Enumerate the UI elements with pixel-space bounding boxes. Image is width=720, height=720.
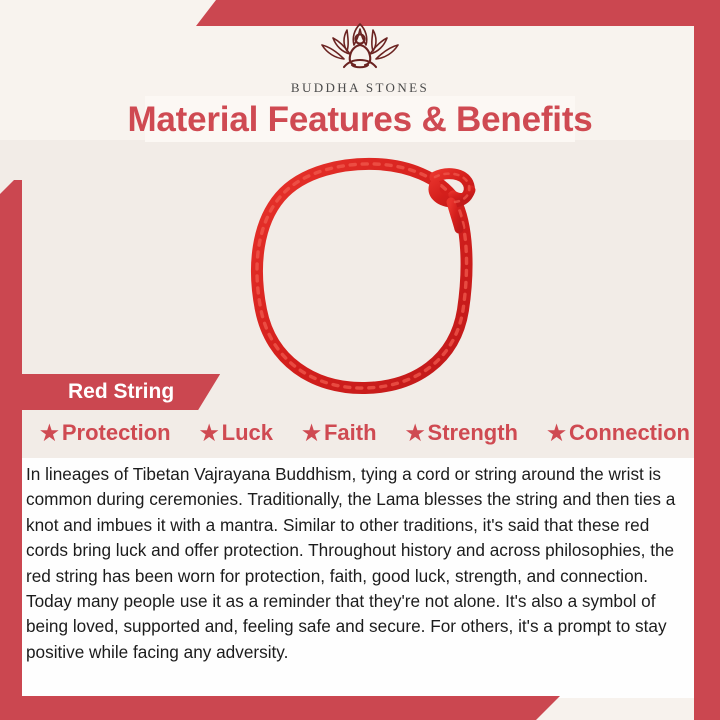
benefit-item: ★ Protection <box>40 420 171 446</box>
benefits-list: ★ Protection ★ Luck ★ Faith ★ Strength ★… <box>40 420 690 446</box>
star-icon: ★ <box>200 423 219 444</box>
decorative-bar-left <box>0 180 22 720</box>
product-image-red-string-bracelet <box>225 155 500 395</box>
benefit-item: ★ Connection <box>547 420 690 446</box>
ribbon-label: Red String <box>68 380 174 404</box>
brand-name: BUDDHA STONES <box>0 80 720 96</box>
benefit-item: ★ Faith <box>302 420 376 446</box>
benefit-label: Luck <box>222 420 273 446</box>
benefit-label: Connection <box>569 420 690 446</box>
benefit-item: ★ Luck <box>200 420 273 446</box>
lotus-meditation-logo-icon <box>300 18 420 76</box>
poster-root: BUDDHA STONES Material Features & Benefi… <box>0 0 720 720</box>
benefit-label: Protection <box>62 420 171 446</box>
star-icon: ★ <box>547 423 566 444</box>
description-paragraph: In lineages of Tibetan Vajrayana Buddhis… <box>26 462 696 665</box>
benefit-label: Strength <box>428 420 518 446</box>
brand-logo: BUDDHA STONES <box>0 18 720 96</box>
benefit-label: Faith <box>324 420 377 446</box>
star-icon: ★ <box>302 423 321 444</box>
page-title: Material Features & Benefits <box>0 100 720 140</box>
benefit-item: ★ Strength <box>406 420 518 446</box>
star-icon: ★ <box>40 423 59 444</box>
section-ribbon-red-string: Red String <box>22 374 220 410</box>
star-icon: ★ <box>406 423 425 444</box>
decorative-bar-bottom <box>0 696 560 720</box>
